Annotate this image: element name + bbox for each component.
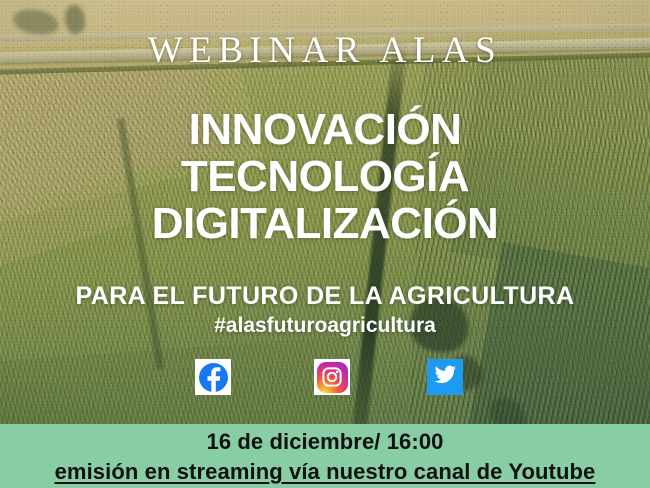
streaming-link-text[interactable]: emisión en streaming vía nuestro canal d… (0, 461, 650, 483)
webinar-poster: WEBINAR ALAS INNOVACIÓN TECNOLOGÍA DIGIT… (0, 0, 650, 488)
event-date-time: 16 de diciembre/ 16:00 (0, 431, 650, 453)
facebook-link[interactable] (195, 359, 231, 395)
facebook-icon (199, 363, 228, 392)
headline-line-2: TECNOLOGÍA (0, 155, 650, 198)
event-hashtag: #alasfuturoagricultura (0, 315, 650, 336)
headline-line-1: INNOVACIÓN (0, 108, 650, 151)
instagram-icon (317, 362, 348, 393)
instagram-link[interactable] (314, 359, 350, 395)
twitter-icon (434, 363, 457, 391)
social-links (0, 359, 650, 397)
headline-line-3: DIGITALIZACIÓN (0, 202, 650, 245)
event-kicker: WEBINAR ALAS (0, 32, 650, 69)
twitter-link[interactable] (427, 359, 463, 395)
poster-subtitle: PARA EL FUTURO DE LA AGRICULTURA (0, 284, 650, 309)
page-title: INNOVACIÓN TECNOLOGÍA DIGITALIZACIÓN (0, 108, 650, 245)
event-footer-bar: 16 de diciembre/ 16:00 emisión en stream… (0, 424, 650, 488)
poster-content: WEBINAR ALAS INNOVACIÓN TECNOLOGÍA DIGIT… (0, 0, 650, 488)
